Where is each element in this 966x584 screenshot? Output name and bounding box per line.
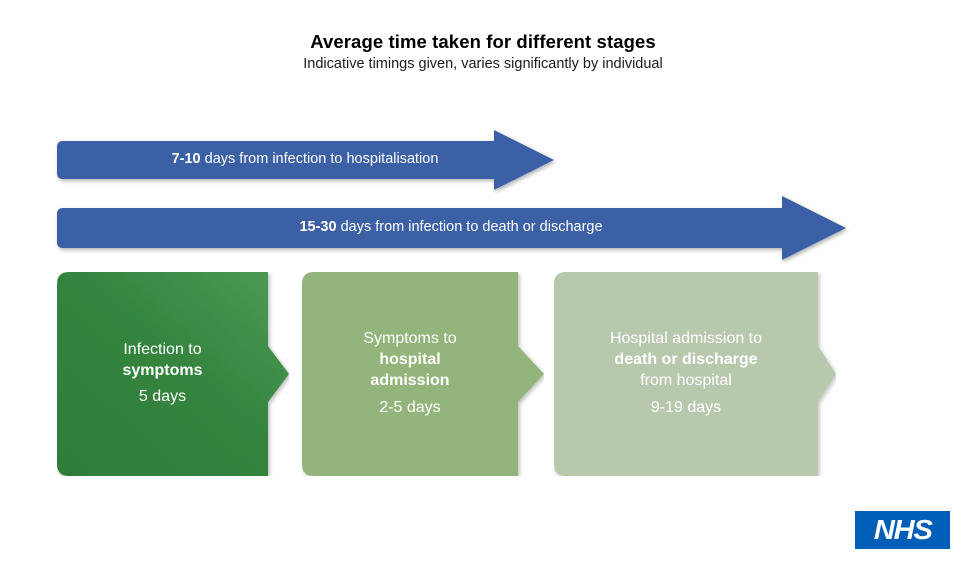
arrow-shape — [57, 196, 846, 260]
stage-chevron-shape — [57, 272, 289, 476]
stage-box-hospital-admission-to-death-or-discharge: Hospital admission to death or discharge… — [554, 272, 836, 476]
stage-box-infection-to-symptoms: Infection to symptoms 5 days — [57, 272, 289, 476]
stage-chevron-shape — [554, 272, 836, 476]
arrow-shape — [57, 130, 554, 190]
stage-box-symptoms-to-hospital-admission: Symptoms to hospital admission 2-5 days — [302, 272, 544, 476]
heading-block: Average time taken for different stages … — [0, 30, 966, 74]
slide-canvas: Average time taken for different stages … — [0, 0, 966, 584]
nhs-logo-text: NHS — [874, 516, 932, 544]
timeline-arrow-infection-to-hospitalisation: 7-10 days from infection to hospitalisat… — [57, 130, 554, 190]
stage-chevron-shape — [302, 272, 544, 476]
nhs-logo: NHS — [855, 511, 950, 549]
timeline-arrow-infection-to-death-or-discharge: 15-30 days from infection to death or di… — [57, 196, 846, 260]
page-title: Average time taken for different stages — [0, 30, 966, 53]
page-subtitle: Indicative timings given, varies signifi… — [0, 55, 966, 74]
